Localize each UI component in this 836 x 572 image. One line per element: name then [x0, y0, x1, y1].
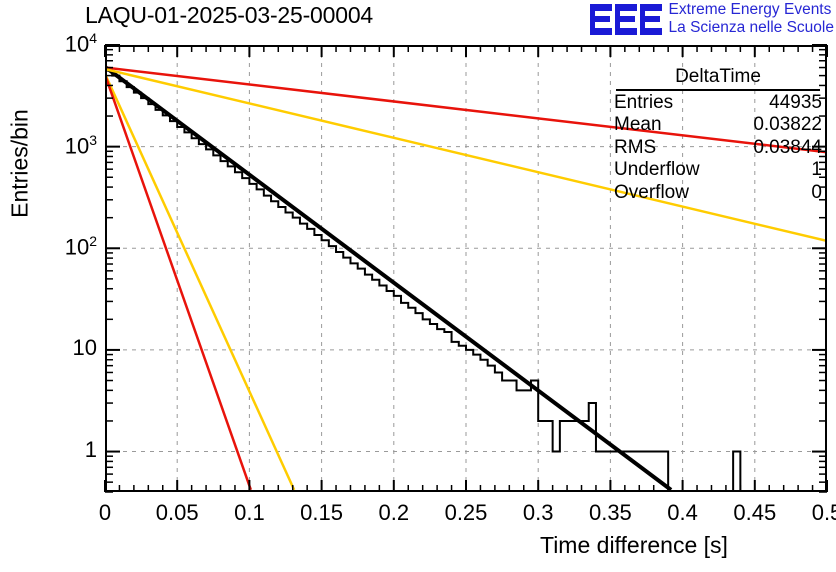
- stats-box: DeltaTime Entries44935Mean0.03822RMS0.03…: [608, 66, 828, 204]
- stats-title: DeltaTime: [616, 66, 820, 91]
- stats-value: 0: [811, 182, 822, 204]
- stats-row: Underflow1: [608, 159, 828, 181]
- stats-key: Entries: [614, 92, 673, 114]
- stats-row: Entries44935: [608, 92, 828, 114]
- stats-value: 0.03822: [753, 114, 822, 136]
- stats-row: Mean0.03822: [608, 114, 828, 136]
- root-canvas: LAQU-01-2025-03-25-00004 Extreme Energy …: [0, 0, 836, 572]
- stats-value: 44935: [769, 92, 822, 114]
- stats-row: Overflow0: [608, 182, 828, 204]
- stats-key: Underflow: [614, 159, 700, 181]
- stats-value: 1: [811, 159, 822, 181]
- stats-key: Mean: [614, 114, 662, 136]
- stats-value: 0.03844: [753, 137, 822, 159]
- stats-rows: Entries44935Mean0.03822RMS0.03844Underfl…: [608, 92, 828, 204]
- stats-key: Overflow: [614, 182, 689, 204]
- stats-row: RMS0.03844: [608, 137, 828, 159]
- stats-key: RMS: [614, 137, 656, 159]
